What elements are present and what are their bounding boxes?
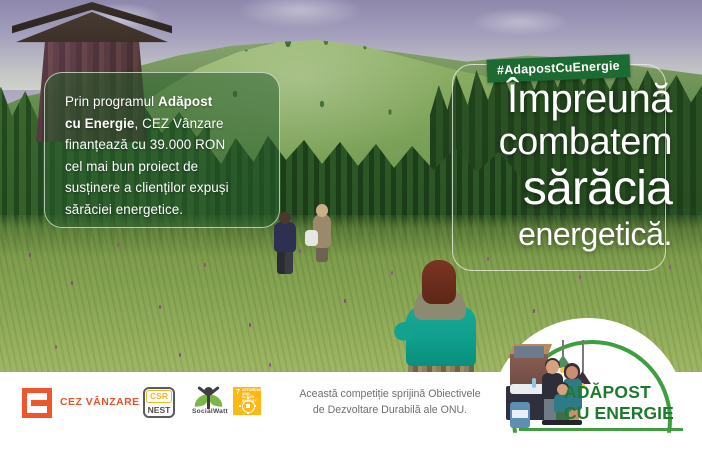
csr-nest-logo-line1: CSR [146,390,172,403]
program-description-panel: Prin programul Adăpostcu Energie, CEZ Vâ… [44,72,280,228]
socialwatt-logo-label: SocialWatt [182,408,238,415]
badge-underline [519,428,683,431]
headline-line-1: Împreună [440,78,672,120]
desc-bold-adapost: Adăpost [158,94,212,109]
desc-line6: sărăciei energetice. [65,202,183,217]
sdg-7-affordable-clean-energy-icon: 7 AFFORDABLE AND CLEAN ENERGY [233,387,261,415]
adapost-cu-energie-badge: ADĂPOST CU ENERGIE [490,318,702,459]
footer-note-line-2: de Dezvoltare Durabilă ale ONU. [313,404,467,416]
desc-line1-pre: Prin programul [65,94,158,109]
person-walking-woman [310,204,334,262]
footer-note-line-1: Această competiție sprijină Obiectivele [299,388,480,400]
headline-line-4: energetică. [440,214,672,254]
headline-line-3: sărăcia [440,164,672,214]
badge-title-line-2: CU ENERGIE [564,403,696,424]
poster-root: Prin programul Adăpostcu Energie, CEZ Vâ… [0,0,702,459]
badge-title-line-1: ADĂPOST [564,382,696,403]
headline-line-2: combatem [440,120,672,164]
desc-line2-rest: , CEZ Vânzare [134,116,223,131]
desc-line3: finanțează cu 39.000 RON [65,137,225,152]
program-description-text: Prin programul Adăpostcu Energie, CEZ Vâ… [65,91,259,220]
desc-line5: susținere a clienților expuși [65,180,229,195]
csr-nest-logo: CSR NEST [143,387,175,418]
cez-vanzare-logo-label: CEZ VÂNZARE [60,396,140,408]
person-girl-teal-jacket [396,260,482,380]
desc-bold-cu-energie: cu Energie [65,116,134,131]
badge-title: ADĂPOST CU ENERGIE [564,382,696,424]
csr-nest-logo-line2: NEST [146,404,172,416]
cez-vanzare-logo-mark [22,388,52,418]
sdg-number: 7 [236,389,240,396]
footer-note: Această competiție sprijină Obiectivele … [280,386,500,418]
headline-block: Împreună combatem sărăcia energetică. [440,78,690,254]
desc-line4: cel mai bun proiect de [65,159,198,174]
